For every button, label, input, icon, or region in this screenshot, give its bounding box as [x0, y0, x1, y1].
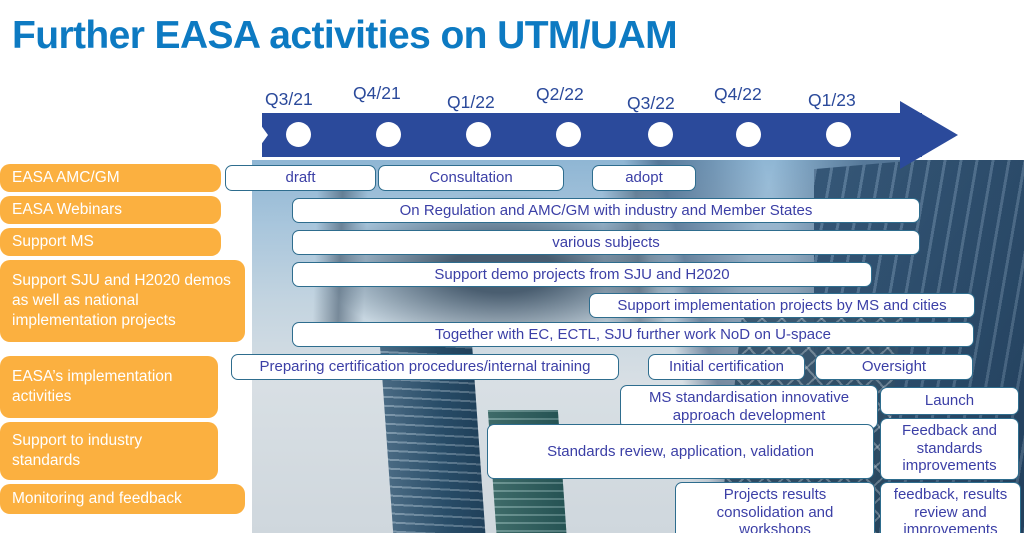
bar-draft[interactable]: draft [225, 165, 376, 191]
bar-on-regulation[interactable]: On Regulation and AMC/GM with industry a… [292, 198, 920, 223]
timeline-label-q1-22: Q1/22 [447, 92, 495, 113]
sidebar-item-support-ms[interactable]: Support MS [0, 228, 221, 256]
bar-feedback-results-review[interactable]: feedback, results review and improvement… [880, 482, 1021, 533]
timeline-dot [648, 122, 673, 147]
timeline-dot [556, 122, 581, 147]
timeline-label-q1-23: Q1/23 [808, 90, 856, 111]
bar-various-subjects[interactable]: various subjects [292, 230, 920, 255]
bar-oversight[interactable]: Oversight [815, 354, 973, 380]
bar-preparing-certification[interactable]: Preparing certification procedures/inter… [231, 354, 619, 380]
timeline-arrow-notch [252, 113, 268, 157]
timeline-arrow-head [900, 101, 958, 169]
timeline-arrow-body [262, 113, 922, 157]
timeline-label-q4-21: Q4/21 [353, 83, 401, 104]
sidebar-item-easa-webinars[interactable]: EASA Webinars [0, 196, 221, 224]
bar-initial-certification[interactable]: Initial certification [648, 354, 805, 380]
bar-ms-standardisation[interactable]: MS standardisation innovative approach d… [620, 385, 878, 429]
bar-consultation[interactable]: Consultation [378, 165, 564, 191]
timeline-dot [466, 122, 491, 147]
page-title: Further EASA activities on UTM/UAM [12, 14, 677, 58]
timeline-dot [286, 122, 311, 147]
timeline-label-q4-22: Q4/22 [714, 84, 762, 105]
timeline-dot [826, 122, 851, 147]
sidebar-item-monitoring-feedback[interactable]: Monitoring and feedback [0, 484, 245, 514]
bar-support-demo-projects[interactable]: Support demo projects from SJU and H2020 [292, 262, 872, 287]
timeline-dot [736, 122, 761, 147]
sidebar-item-support-sju-h2020[interactable]: Support SJU and H2020 demos as well as n… [0, 260, 245, 342]
timeline-label-q2-22: Q2/22 [536, 84, 584, 105]
timeline-arrow [252, 113, 964, 157]
slide-root: Further EASA activities on UTM/UAM Q3/21… [0, 0, 1024, 533]
timeline-label-q3-21: Q3/21 [265, 89, 313, 110]
bar-together-with-ec[interactable]: Together with EC, ECTL, SJU further work… [292, 322, 974, 347]
bar-support-implementation-projects[interactable]: Support implementation projects by MS an… [589, 293, 975, 318]
timeline-dot [376, 122, 401, 147]
sidebar-item-easa-amc-gm[interactable]: EASA AMC/GM [0, 164, 221, 192]
sidebar-item-support-industry-stds[interactable]: Support to industry standards [0, 422, 218, 480]
bar-launch[interactable]: Launch [880, 387, 1019, 415]
bar-adopt[interactable]: adopt [592, 165, 696, 191]
bar-feedback-standards-improvements[interactable]: Feedback and standards improvements [880, 418, 1019, 480]
bar-projects-results[interactable]: Projects results consolidation and works… [675, 482, 875, 533]
bar-standards-review[interactable]: Standards review, application, validatio… [487, 424, 874, 479]
sidebar-item-easa-implementation[interactable]: EASA’s implementation activities [0, 356, 218, 418]
timeline-label-q3-22: Q3/22 [627, 93, 675, 114]
